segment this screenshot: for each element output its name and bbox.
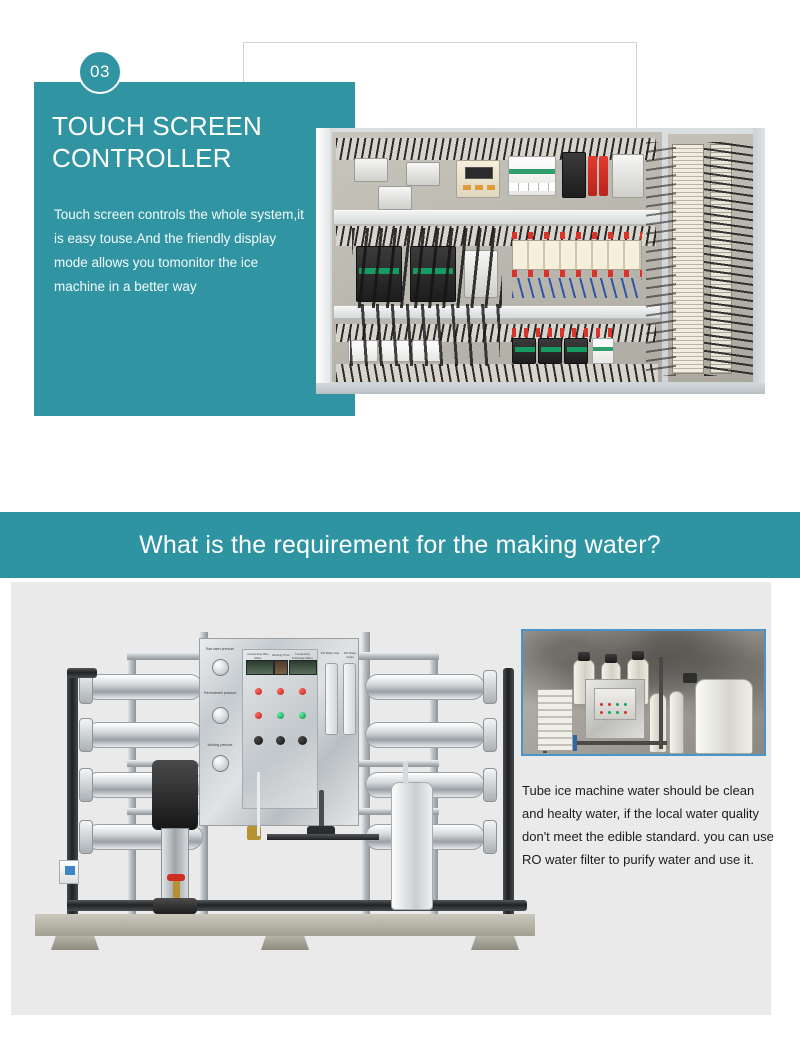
- flow-meter-1: [325, 663, 338, 735]
- push-button-1[interactable]: [254, 736, 263, 745]
- ro-installation-inset-photo: [521, 629, 766, 756]
- cable-duct-top: [336, 138, 656, 160]
- skid-foot-2: [261, 936, 309, 950]
- inset-led-7: [616, 711, 619, 714]
- vessel-cap-2: [79, 718, 93, 752]
- feature-title: TOUCH SCREEN CONTROLLER: [52, 110, 342, 174]
- inset-valve-1: [578, 652, 590, 661]
- din-module-3: [378, 186, 412, 210]
- mini-contactor-1-label: [515, 347, 535, 352]
- inset-pipe-vertical-2: [659, 657, 663, 749]
- mini-contactor-3-label: [567, 347, 587, 352]
- vessel-cap-6: [483, 718, 497, 752]
- vessel-cap-8: [483, 820, 497, 854]
- indicator-red-2: [277, 688, 284, 695]
- brass-valve-stem: [173, 880, 180, 898]
- filter-tube: [403, 762, 408, 784]
- water-requirement-section: Raw water pressure Pre treatment pressur…: [11, 582, 771, 1015]
- meter-label-2: Working Timer: [271, 653, 291, 657]
- sensor-box-display: [65, 866, 75, 875]
- mini-contactor-2: [538, 338, 562, 364]
- fuse-red-2: [599, 156, 608, 196]
- pressure-gauge-3: [212, 755, 229, 772]
- skid-base: [35, 914, 535, 936]
- top-inlet-pipe: [67, 668, 97, 678]
- inset-pipe-horizontal: [571, 741, 667, 745]
- wire-bundle-lower: [350, 304, 500, 366]
- flowmeter-label-2: RO Water Outlet: [340, 651, 360, 659]
- fuse-holder-row: [512, 240, 642, 270]
- mini-contactor-3: [564, 338, 588, 364]
- flowmeter-label-1: RO Water Inlet: [320, 651, 340, 655]
- temperature-controller: [456, 160, 500, 198]
- meter-label-3: Conductivity Discharge Meter: [289, 652, 316, 660]
- frame-upright-3: [361, 632, 370, 916]
- membrane-vessel-2: [85, 722, 203, 748]
- indicator-red-3: [299, 688, 306, 695]
- ro-control-cabinet: Raw water pressure Pre treatment pressur…: [199, 638, 359, 826]
- controller-led-2: [475, 185, 483, 190]
- cabinet-frame-right: [753, 128, 765, 394]
- cable-duct-bottom: [336, 364, 658, 382]
- mcb-bank-top: [508, 156, 556, 196]
- mini-contactor-2-label: [541, 347, 561, 352]
- lower-branch-pipe: [267, 834, 379, 840]
- controller-display: [465, 167, 493, 179]
- inset-led-5: [600, 711, 603, 714]
- bottom-row-terminals: [512, 328, 616, 337]
- ro-system-photo: Raw water pressure Pre treatment pressur…: [31, 612, 551, 952]
- bottom-header-pipe: [67, 900, 527, 911]
- fuse-red-1: [588, 156, 597, 196]
- white-tubing: [257, 772, 260, 836]
- wire-bundle-upper: [352, 228, 502, 308]
- mini-contactor-1: [512, 338, 536, 364]
- push-button-3[interactable]: [298, 736, 307, 745]
- membrane-vessel-6: [365, 722, 485, 748]
- pressure-gauge-1: [212, 659, 229, 676]
- wiring-shelf-upper: [334, 210, 660, 225]
- skid-foot-1: [51, 936, 99, 950]
- indicator-green-1: [277, 712, 284, 719]
- inset-valve-2: [605, 654, 617, 663]
- banner-title: What is the requirement for the making w…: [0, 512, 800, 578]
- pump-base: [153, 898, 197, 914]
- indicator-red-1: [255, 688, 262, 695]
- touch-screen-controller-section: 03 TOUCH SCREEN CONTROLLER Touch screen …: [0, 0, 800, 505]
- terminal-wire-fan-right: [704, 142, 758, 376]
- sensor-box: [59, 860, 79, 884]
- membrane-vessel-1: [85, 674, 203, 700]
- question-banner: What is the requirement for the making w…: [0, 512, 800, 578]
- inset-led-4: [624, 703, 627, 706]
- fuse-row-bottom-terminals: [512, 270, 642, 277]
- inset-membrane-rack: [537, 689, 573, 751]
- feature-description: Touch screen controls the whole system,i…: [54, 203, 312, 299]
- inset-led-2: [608, 703, 611, 706]
- cabinet-frame-bottom: [316, 383, 765, 394]
- mcb-levers: [509, 183, 555, 191]
- manifold-right: [503, 668, 514, 918]
- inset-led-3: [616, 703, 619, 706]
- controller-led-1: [463, 185, 471, 190]
- step-number-badge: 03: [78, 50, 122, 94]
- vessel-cap-5: [483, 670, 497, 704]
- membrane-vessel-5: [365, 674, 485, 700]
- cartridge-filter-vessel: [391, 782, 433, 910]
- mcb-bottom: [592, 338, 614, 364]
- inset-cartridge-filter: [669, 691, 684, 754]
- terminal-strip-a: [672, 144, 704, 374]
- conductivity-meter-inlet[interactable]: [246, 660, 274, 675]
- indicator-red-4: [255, 712, 262, 719]
- gauge-label-2: Pre treatment pressure: [203, 691, 237, 695]
- inset-led-8: [624, 711, 627, 714]
- inset-storage-tank: [695, 679, 753, 754]
- terminal-wire-fan-left: [646, 142, 676, 376]
- fuse-row-top-terminals: [512, 232, 642, 239]
- flow-meter-2: [343, 663, 356, 735]
- inset-control-panel: [594, 688, 636, 720]
- gauge-label-1: Raw water pressure: [203, 647, 237, 651]
- conductivity-meter-outlet[interactable]: [289, 660, 317, 675]
- din-module-1: [354, 158, 388, 182]
- skid-foot-3: [471, 936, 519, 950]
- mcb-green-band: [509, 169, 555, 174]
- control-cabinet-photo: [316, 128, 765, 394]
- vessel-cap-7: [483, 768, 497, 802]
- fuse-row-blue-wires: [512, 278, 642, 298]
- pump-motor: [152, 760, 198, 830]
- vessel-cap-3: [79, 768, 93, 802]
- controller-led-3: [487, 185, 495, 190]
- inset-tank-valve: [683, 673, 697, 683]
- inset-valve-3: [632, 651, 644, 660]
- gauge-label-3: Working pressure: [203, 743, 237, 747]
- meter-label-1: Conductivity Blue Meter: [245, 652, 271, 660]
- inset-control-cabinet: [585, 679, 645, 739]
- working-timer[interactable]: [274, 660, 288, 675]
- push-button-2[interactable]: [276, 736, 285, 745]
- pressure-gauge-2: [212, 707, 229, 724]
- indicator-green-2: [299, 712, 306, 719]
- product-detail-page: 03 TOUCH SCREEN CONTROLLER Touch screen …: [0, 0, 800, 1042]
- inset-led-6: [608, 711, 611, 714]
- vessel-cap-4: [79, 820, 93, 854]
- ro-operator-panel: Conductivity Blue Meter Working Timer Co…: [242, 649, 318, 809]
- red-valve-handle: [167, 874, 185, 881]
- inset-led-1: [600, 703, 603, 706]
- mcb-bottom-band: [593, 347, 613, 351]
- power-supply-module: [612, 154, 644, 198]
- relay-module-1: [562, 152, 586, 198]
- din-module-2: [406, 162, 440, 186]
- requirement-description: Tube ice machine water should be clean a…: [522, 779, 774, 871]
